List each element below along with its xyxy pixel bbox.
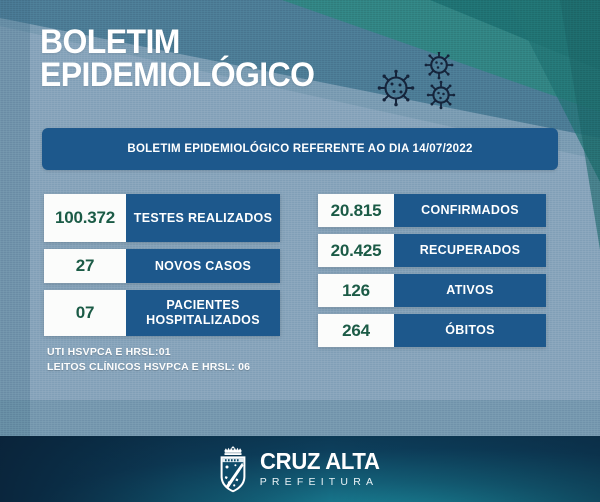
stat-value: 264 [318,314,394,347]
stat-value: 20.425 [318,234,394,267]
stat-row: 126 ATIVOS [318,274,546,307]
report-date-banner: BOLETIM EPIDEMIOLÓGICO REFERENTE AO DIA … [42,128,558,170]
virus-icon-group [376,52,468,114]
stat-label: NOVOS CASOS [126,249,280,283]
stat-row: 20.425 RECUPERADOS [318,234,546,267]
footnote-uti: UTI HSVPCA E HRSL:01 [47,345,250,360]
poster-root: BOLETIM EPIDEMIOLÓGICO [0,0,600,502]
stat-row: 20.815 CONFIRMADOS [318,194,546,227]
stat-label: ÓBITOS [394,314,546,347]
coat-of-arms-icon [216,445,250,493]
footer-band: CRUZ ALTA PREFEITURA [0,436,600,502]
page-title-line-1: BOLETIM [40,26,314,59]
page-title: BOLETIM EPIDEMIOLÓGICO [40,26,332,93]
brand-name: CRUZ ALTA [260,450,380,473]
virus-icon [425,52,454,79]
brand-subtitle: PREFEITURA [260,477,385,488]
footnote-leitos: LEITOS CLÍNICOS HSVPCA E HRSL: 06 [47,360,250,375]
stat-value: 27 [44,249,126,283]
virus-icon [378,70,415,107]
stat-label: CONFIRMADOS [394,194,546,227]
stat-label: RECUPERADOS [394,234,546,267]
stat-row: 27 NOVOS CASOS [44,249,280,283]
stat-label: PACIENTES HOSPITALIZADOS [126,290,280,336]
report-date-banner-text: BOLETIM EPIDEMIOLÓGICO REFERENTE AO DIA … [127,143,472,155]
stat-label: TESTES REALIZADOS [126,194,280,242]
stat-value: 07 [44,290,126,336]
stat-value: 20.815 [318,194,394,227]
stat-label: ATIVOS [394,274,546,307]
stat-row: 07 PACIENTES HOSPITALIZADOS [44,290,280,336]
stats-column-left: 100.372 TESTES REALIZADOS 27 NOVOS CASOS… [44,194,280,343]
stat-value: 100.372 [44,194,126,242]
stat-row: 100.372 TESTES REALIZADOS [44,194,280,242]
stats-column-right: 20.815 CONFIRMADOS 20.425 RECUPERADOS 12… [318,194,546,354]
page-title-line-2: EPIDEMIOLÓGICO [40,59,314,92]
footnotes: UTI HSVPCA E HRSL:01 LEITOS CLÍNICOS HSV… [47,345,250,375]
stat-row: 264 ÓBITOS [318,314,546,347]
stat-value: 126 [318,274,394,307]
virus-icon [427,81,455,109]
brand-lockup: CRUZ ALTA PREFEITURA [260,450,385,488]
